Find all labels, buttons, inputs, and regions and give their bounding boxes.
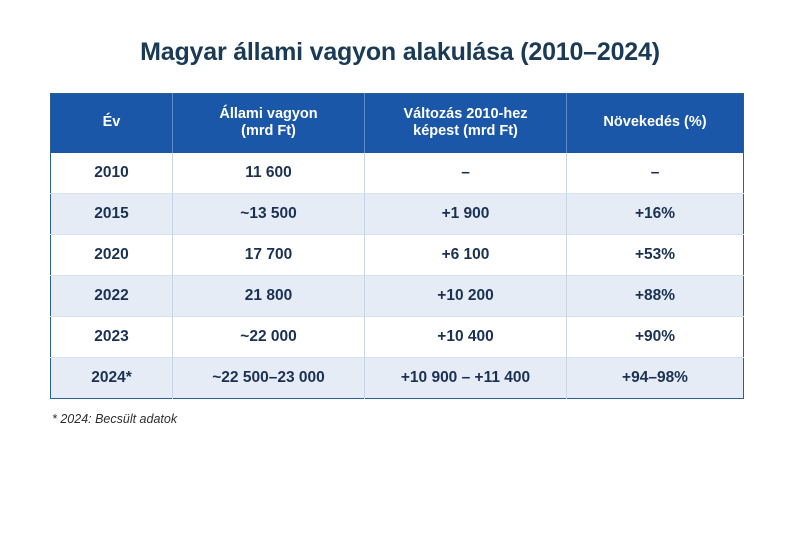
cell-change: +10 900 – +11 400 [365, 358, 567, 399]
cell-growth: +53% [567, 235, 744, 276]
column-header-change-line2: képest (mrd Ft) [413, 123, 518, 139]
cell-growth: +90% [567, 317, 744, 358]
table-row: 2010 11 600 – – [51, 153, 744, 194]
cell-year: 2010 [51, 153, 173, 194]
cell-year: 2024* [51, 358, 173, 399]
cell-change: +10 200 [365, 276, 567, 317]
cell-growth: – [567, 153, 744, 194]
cell-wealth: 21 800 [173, 276, 365, 317]
state-wealth-table: Év Állami vagyon (mrd Ft) Változás 2010-… [50, 93, 744, 399]
table-row: 2020 17 700 +6 100 +53% [51, 235, 744, 276]
table-container: Év Állami vagyon (mrd Ft) Változás 2010-… [50, 93, 743, 399]
cell-change: +1 900 [365, 194, 567, 235]
table-row: 2022 21 800 +10 200 +88% [51, 276, 744, 317]
table-row: 2024* ~22 500–23 000 +10 900 – +11 400 +… [51, 358, 744, 399]
column-header-wealth-line1: Állami vagyon [219, 106, 317, 122]
page-title: Magyar állami vagyon alakulása (2010–202… [0, 38, 800, 67]
cell-year: 2023 [51, 317, 173, 358]
column-header-year-line1: Év [103, 114, 121, 130]
table-header: Év Állami vagyon (mrd Ft) Változás 2010-… [51, 94, 744, 153]
column-header-change: Változás 2010-hez képest (mrd Ft) [365, 94, 567, 153]
table-row: 2023 ~22 000 +10 400 +90% [51, 317, 744, 358]
cell-wealth: ~22 500–23 000 [173, 358, 365, 399]
cell-wealth: ~22 000 [173, 317, 365, 358]
cell-year: 2015 [51, 194, 173, 235]
table-header-row: Év Állami vagyon (mrd Ft) Változás 2010-… [51, 94, 744, 153]
table-body: 2010 11 600 – – 2015 ~13 500 +1 900 +16%… [51, 153, 744, 399]
cell-wealth: 17 700 [173, 235, 365, 276]
column-header-wealth-line2: (mrd Ft) [241, 123, 296, 139]
cell-change: +10 400 [365, 317, 567, 358]
cell-growth: +88% [567, 276, 744, 317]
column-header-change-line1: Változás 2010-hez [403, 106, 527, 122]
cell-year: 2020 [51, 235, 173, 276]
table-row: 2015 ~13 500 +1 900 +16% [51, 194, 744, 235]
cell-change: – [365, 153, 567, 194]
cell-year: 2022 [51, 276, 173, 317]
cell-wealth: 11 600 [173, 153, 365, 194]
cell-growth: +94–98% [567, 358, 744, 399]
cell-growth: +16% [567, 194, 744, 235]
column-header-growth-line1: Növekedés (%) [603, 114, 706, 130]
column-header-growth: Növekedés (%) [567, 94, 744, 153]
column-header-wealth: Állami vagyon (mrd Ft) [173, 94, 365, 153]
column-header-year: Év [51, 94, 173, 153]
cell-wealth: ~13 500 [173, 194, 365, 235]
footnote: * 2024: Becsült adatok [52, 412, 177, 426]
infographic-page: Magyar állami vagyon alakulása (2010–202… [0, 0, 800, 533]
cell-change: +6 100 [365, 235, 567, 276]
